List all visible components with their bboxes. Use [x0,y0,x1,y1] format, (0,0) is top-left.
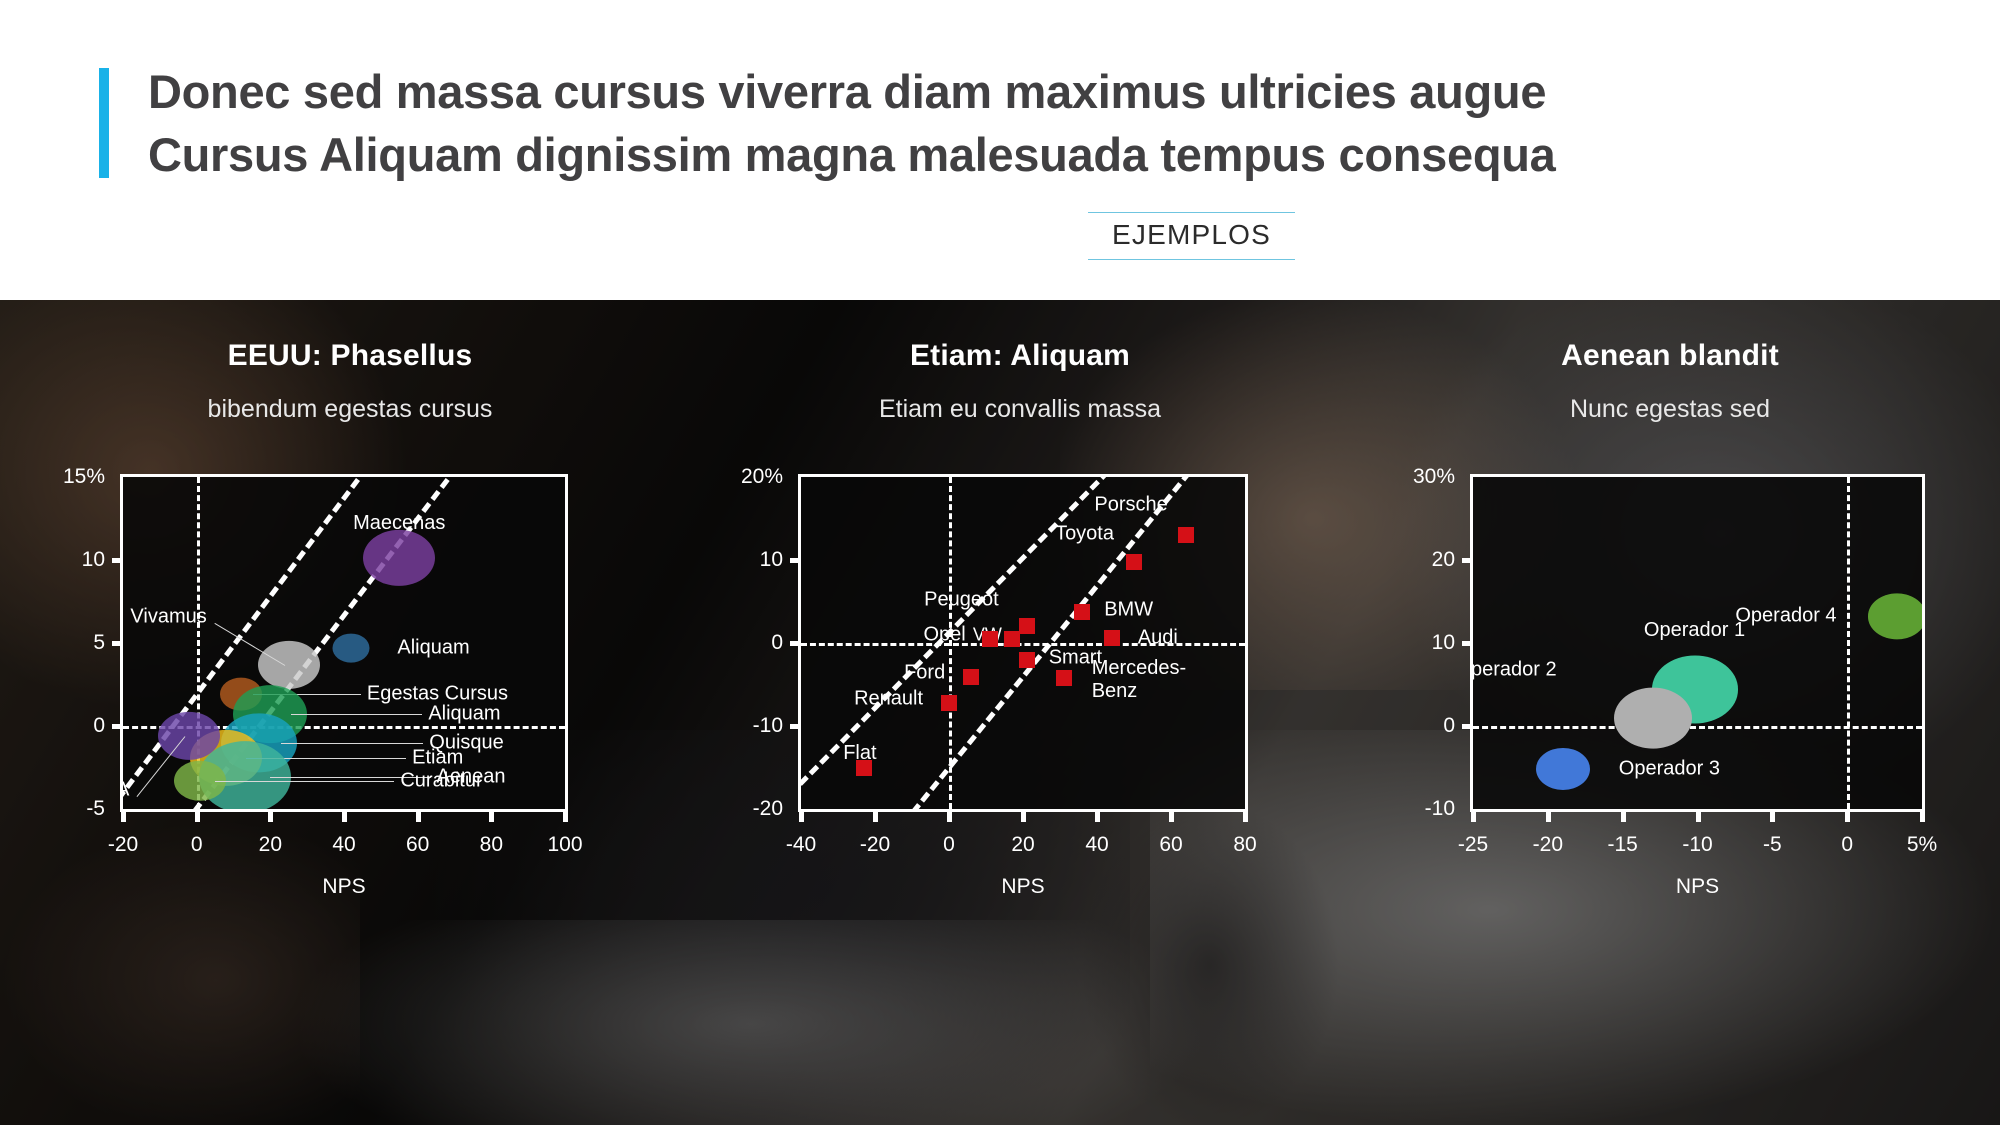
chart-2-point-label: Porsche [1094,494,1167,517]
chart-3-point-label: Operador 1 [1644,619,1745,642]
chart-2-marker[interactable] [1056,670,1072,686]
chart-2-ytick [790,724,801,729]
chart-2-xtick [1169,809,1174,822]
chart-3-ytick-label: 10 [1432,631,1455,655]
chart-1-point-label: Maecenas [353,512,445,535]
examples-badge-label: EJEMPLOS [1112,219,1271,250]
chart-1-ytick-label: -5 [86,797,105,821]
chart-1-xaxis-title: NPS [123,875,565,899]
chart-2-ytick [790,641,801,646]
chart-2-point-label: BMW [1104,599,1153,622]
chart-3-ytick-label: 30% [1413,465,1455,489]
chart-2-xtick-label: 80 [1233,833,1256,857]
chart-3-plot-area: Operador 4Operador 1Operador 2Operador 3 [1473,477,1922,809]
chart-3-xtick-label: 0 [1841,833,1853,857]
chart-1-xtick [195,809,200,822]
chart-1-point-label: Vivamus [130,605,206,628]
chart-2-xtick [1095,809,1100,822]
chart-2-ytick-label: 10 [760,548,783,572]
chart-2-marker[interactable] [1019,618,1035,634]
chart-3-bubble[interactable] [1868,594,1922,639]
chart-2-ytick-label: -20 [753,797,783,821]
chart-1-ytick [112,724,123,729]
chart-3-bubble[interactable] [1614,687,1692,748]
chart-2-marker[interactable] [1178,527,1194,543]
chart-1-leader-line [281,743,424,744]
chart-2-marker[interactable] [941,695,957,711]
chart-2-xtick-label: -40 [786,833,816,857]
chart-3-point-label: Operador 4 [1735,605,1836,628]
chart-1-xtick-label: 40 [332,833,355,857]
chart-2-marker[interactable] [1104,630,1120,646]
page-title-line-2: Cursus Aliquam dignissim magna malesuada… [148,123,1868,186]
chart-1-xtick-label: 20 [259,833,282,857]
chart-3-ytick [1462,641,1473,646]
chart-1-bubble[interactable] [158,712,220,760]
chart-2-marker[interactable] [1126,554,1142,570]
chart-3-xtick-label: -5 [1763,833,1782,857]
chart-1-xtick [416,809,421,822]
chart-3-xtick-label: -15 [1607,833,1637,857]
chart-3-xtick [1920,809,1925,822]
chart-1-ytick [112,558,123,563]
chart-2-marker[interactable] [1004,631,1020,647]
chart-2-plot: PorscheToyotaBMWPeugeotAudiVWOpelSmartMe… [798,474,1248,812]
chart-1-xtick [342,809,347,822]
chart-2-ytick-label: 20% [741,465,783,489]
chart-2-point-label: Ford [904,662,945,685]
chart-1-leader-line [291,714,422,715]
chart-3-ytick-label: 0 [1443,714,1455,738]
chart-3-bubble[interactable] [1536,748,1590,790]
chart-1-xtick [268,809,273,822]
chart-1-point-label: Aliquam [397,636,469,659]
chart-panel-1: EEUU: Phasellus bibendum egestas cursus … [0,300,700,1125]
chart-3-xtick [1696,809,1701,822]
chart-1-xtick-label: 60 [406,833,429,857]
chart-1-xtick-label: 80 [480,833,503,857]
chart-2-xtick [1243,809,1248,822]
chart-1-plot-area: MaecenasAliquamVivamusEgestas CursusAliq… [123,477,565,809]
chart-3-point-label: Operador 3 [1619,758,1720,781]
chart-3-ytick-label: -10 [1425,797,1455,821]
chart-1-xtick-label: 100 [547,833,582,857]
chart-3-xaxis-title: NPS [1473,875,1922,899]
page-title: Donec sed massa cursus viverra diam maxi… [148,60,1868,186]
chart-3-ytick-label: 20 [1432,548,1455,572]
chart-1-title: EEUU: Phasellus [0,339,700,373]
chart-1-plot: MaecenasAliquamVivamusEgestas CursusAliq… [120,474,568,812]
page-header: Donec sed massa cursus viverra diam maxi… [0,0,2000,300]
chart-2-xaxis-title: NPS [801,875,1245,899]
chart-3-ytick [1462,558,1473,563]
chart-2-point-label: Toyota [1055,523,1114,546]
chart-3-title: Aenean blandit [1340,339,2000,373]
chart-1-subtitle: bibendum egestas cursus [0,395,700,424]
chart-2-marker[interactable] [1074,604,1090,620]
chart-1-xtick [563,809,568,822]
chart-panel-2: Etiam: Aliquam Etiam eu convallis massa … [700,300,1340,1125]
chart-3-xtick-label: -10 [1682,833,1712,857]
examples-badge: EJEMPLOS [1088,212,1295,260]
chart-1-ytick [112,641,123,646]
chart-3-xtick-label: 5% [1907,833,1937,857]
chart-1-ytick-label: 5 [93,631,105,655]
chart-1-leader-line [215,781,394,782]
chart-2-point-label: Audi [1138,627,1178,650]
header-fade [0,278,2000,300]
chart-1-xtick-label: 0 [191,833,203,857]
chart-1-bubble[interactable] [258,640,320,688]
chart-2-ytick [790,558,801,563]
chart-2-point-label: Renault [854,687,923,710]
chart-3-subtitle: Nunc egestas sed [1340,395,2000,424]
chart-2-xtick-label: -20 [860,833,890,857]
chart-1-ytick-label: 10 [82,548,105,572]
page-title-line-1: Donec sed massa cursus viverra diam maxi… [148,60,1868,123]
chart-2-subtitle: Etiam eu convallis massa [700,395,1340,424]
chart-2-xtick [799,809,804,822]
chart-2-plot-area: PorscheToyotaBMWPeugeotAudiVWOpelSmartMe… [801,477,1245,809]
chart-3-xtick [1621,809,1626,822]
chart-1-bubble[interactable] [333,634,370,663]
chart-2-point-label: Mercedes-Benz [1092,657,1186,703]
chart-3-xtick [1546,809,1551,822]
chart-2-marker[interactable] [982,631,998,647]
chart-2-point-label: Flat [843,742,876,765]
chart-2-xtick-label: 20 [1011,833,1034,857]
chart-1-point-label: Curabitur [400,769,482,792]
chart-3-point-label: Operador 2 [1473,658,1557,681]
chart-2-xtick [873,809,878,822]
chart-3-ytick [1462,724,1473,729]
chart-1-ytick-label: 0 [93,714,105,738]
title-accent-bar [99,68,109,178]
chart-1-point-label: Aliquam [428,703,500,726]
chart-1-ytick-label: 15% [63,465,105,489]
chart-3-horizontal-divider [1473,726,1922,729]
chart-3-plot: Operador 4Operador 1Operador 2Operador 3… [1470,474,1925,812]
chart-1-xtick [489,809,494,822]
chart-1-xtick [121,809,126,822]
chart-1-xtick-label: -20 [108,833,138,857]
chart-2-ytick-label: -10 [753,714,783,738]
chart-2-xtick-label: 60 [1159,833,1182,857]
chart-2-title: Etiam: Aliquam [700,339,1340,373]
chart-2-marker[interactable] [963,669,979,685]
chart-2-marker[interactable] [1019,652,1035,668]
chart-3-xtick-label: -25 [1458,833,1488,857]
chart-2-xtick-label: 0 [943,833,955,857]
chart-3-xtick [1770,809,1775,822]
chart-2-xtick [947,809,952,822]
chart-3-vertical-divider [1847,477,1850,809]
chart-2-point-label: Opel [923,623,965,646]
chart-1-point-label: TWA [123,778,129,801]
chart-2-xtick-label: 40 [1085,833,1108,857]
chart-1-bubble[interactable] [363,530,435,586]
chart-3-xtick-label: -20 [1533,833,1563,857]
chart-3-xtick [1471,809,1476,822]
chart-2-horizontal-divider [801,643,1245,646]
chart-2-ytick-label: 0 [771,631,783,655]
chart-3-xtick [1845,809,1850,822]
chart-panel-3: Aenean blandit Nunc egestas sed Operador… [1340,300,2000,1125]
chart-2-xtick [1021,809,1026,822]
chart-2-point-label: Peugeot [924,588,999,611]
